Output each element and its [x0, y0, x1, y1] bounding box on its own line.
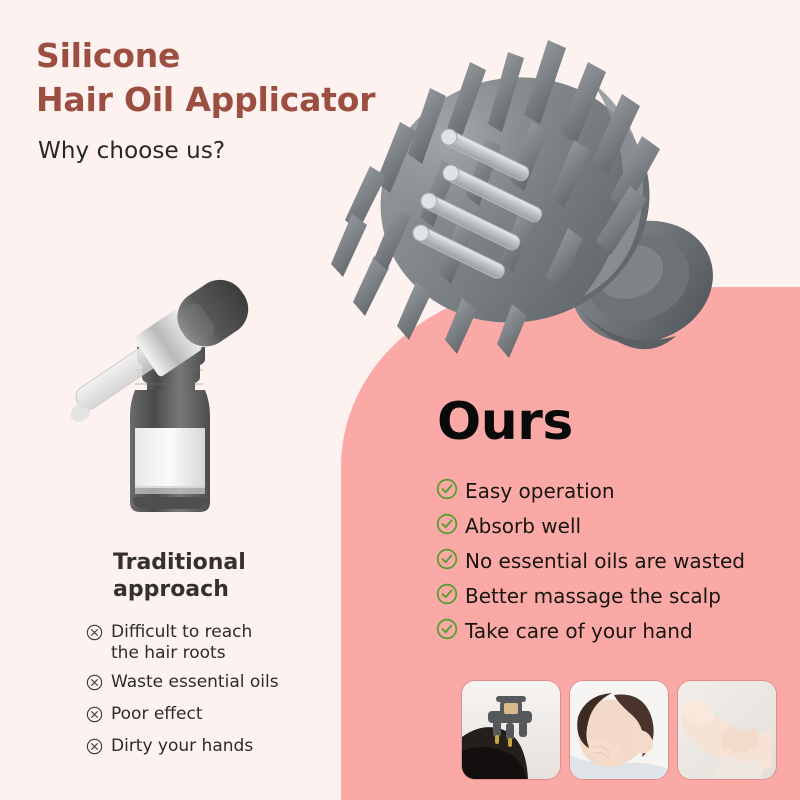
list-item: Easy operation — [436, 478, 796, 504]
list-item-label: Waste essential oils — [111, 672, 279, 693]
list-item-label: Difficult to reach the hair roots — [111, 622, 252, 663]
title-line-1: Silicone — [36, 34, 396, 78]
list-item: Take care of your hand — [436, 618, 796, 644]
list-item-label: No essential oils are wasted — [465, 549, 745, 573]
dropper-oil-bottle-image — [45, 232, 295, 522]
list-item: Poor effect — [86, 704, 346, 727]
traditional-list: Difficult to reach the hair roots Waste … — [86, 622, 346, 768]
x-circle-icon — [86, 706, 103, 727]
list-item-label: Absorb well — [465, 514, 581, 538]
x-circle-icon — [86, 738, 103, 759]
check-circle-icon — [436, 548, 458, 574]
list-item: Better massage the scalp — [436, 583, 796, 609]
thumbnail-row — [462, 681, 776, 779]
check-circle-icon — [436, 478, 458, 504]
infographic-canvas: Silicone Hair Oil Applicator Why choose … — [0, 0, 800, 800]
list-item: Difficult to reach the hair roots — [86, 622, 346, 663]
list-item: Dirty your hands — [86, 736, 346, 759]
list-item: No essential oils are wasted — [436, 548, 796, 574]
check-circle-icon — [436, 618, 458, 644]
list-item-label: Poor effect — [111, 704, 202, 725]
thumbnail-head-massage — [570, 681, 668, 779]
list-item-label: Take care of your hand — [465, 619, 693, 643]
list-item: Waste essential oils — [86, 672, 346, 695]
list-item-label: Better massage the scalp — [465, 584, 721, 608]
list-item-label: Easy operation — [465, 479, 615, 503]
title-line-2: Hair Oil Applicator — [36, 78, 396, 122]
thumbnail-scalp-brush-on-hair — [462, 681, 560, 779]
ours-list: Easy operation Absorb well No essential … — [436, 478, 796, 653]
check-circle-icon — [436, 583, 458, 609]
thumbnail-hands-skincare — [678, 681, 776, 779]
traditional-heading-line-2: approach — [113, 577, 343, 604]
x-circle-icon — [86, 624, 103, 645]
traditional-heading-line-1: Traditional — [113, 550, 343, 577]
subtitle: Why choose us? — [38, 138, 225, 164]
check-circle-icon — [436, 513, 458, 539]
traditional-heading: Traditional approach — [113, 550, 343, 604]
list-item-label: Dirty your hands — [111, 736, 253, 757]
ours-heading: Ours — [437, 396, 573, 448]
page-title: Silicone Hair Oil Applicator — [36, 34, 396, 121]
list-item: Absorb well — [436, 513, 796, 539]
x-circle-icon — [86, 674, 103, 695]
